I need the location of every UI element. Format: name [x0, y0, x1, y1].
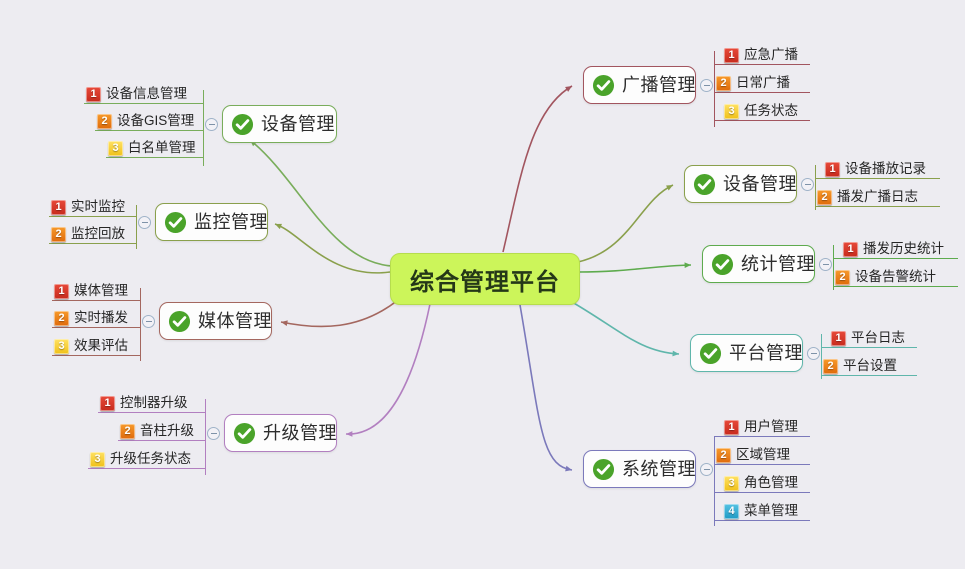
edge-to-media-mgmt-arrowhead	[281, 320, 288, 326]
branch-label: 设备管理	[261, 115, 335, 133]
branch-label: 平台管理	[729, 344, 803, 362]
branch-node-upgrade-mgmt[interactable]: 升级管理	[224, 414, 337, 452]
subitem-label: 升级任务状态	[110, 452, 191, 466]
subitem-number-badge: 3	[108, 141, 123, 156]
subitem-device-mgmt-left-1[interactable]: 1设备信息管理	[84, 83, 203, 105]
subitem-broadcast-mgmt-3[interactable]: 3任务状态	[722, 100, 810, 122]
subitem-upgrade-mgmt-1[interactable]: 1控制器升级	[98, 392, 205, 414]
subitem-system-mgmt-4[interactable]: 4菜单管理	[722, 500, 810, 522]
collapse-minus-icon-device-mgmt-right[interactable]	[801, 178, 814, 191]
subitem-label: 白名单管理	[128, 141, 196, 155]
subitem-label: 控制器升级	[120, 396, 188, 410]
branch-node-monitor-mgmt[interactable]: 监控管理	[155, 203, 268, 241]
edge-to-device-mgmt-left	[250, 140, 392, 266]
subitem-device-mgmt-left-2[interactable]: 2设备GIS管理	[95, 110, 203, 132]
subitem-number-badge: 1	[86, 87, 101, 102]
check-circle-icon	[164, 211, 187, 234]
branch-node-platform-mgmt[interactable]: 平台管理	[690, 334, 803, 372]
branch-label: 统计管理	[741, 255, 815, 273]
subitem-device-mgmt-right-2[interactable]: 2播发广播日志	[815, 186, 932, 208]
subitem-label: 角色管理	[744, 476, 798, 490]
central-topic-label: 综合管理平台	[410, 262, 560, 297]
edge-to-upgrade-mgmt	[346, 304, 430, 434]
check-circle-icon	[592, 458, 615, 481]
check-circle-icon	[711, 253, 734, 276]
edge-to-broadcast-mgmt	[503, 86, 572, 252]
subitem-spine-monitor-mgmt	[136, 205, 137, 249]
branch-label: 监控管理	[194, 213, 268, 231]
subitem-label: 设备信息管理	[106, 87, 187, 101]
subitem-number-badge: 2	[716, 76, 731, 91]
check-circle-icon	[592, 74, 615, 97]
subitem-media-mgmt-3[interactable]: 3效果评估	[52, 335, 140, 357]
subitem-number-badge: 4	[724, 504, 739, 519]
subitem-device-mgmt-right-1[interactable]: 1设备播放记录	[823, 158, 940, 180]
subitem-label: 实时监控	[71, 200, 125, 214]
subitem-spine-device-mgmt-left	[203, 90, 204, 166]
edge-to-monitor-mgmt-arrowhead	[275, 224, 282, 229]
edge-to-system-mgmt	[520, 305, 572, 470]
subitem-label: 区域管理	[736, 448, 790, 462]
subitem-platform-mgmt-2[interactable]: 2平台设置	[821, 355, 909, 377]
subitem-label: 设备播放记录	[845, 162, 926, 176]
central-topic[interactable]: 综合管理平台	[390, 253, 580, 305]
mindmap-canvas: 综合管理平台设备管理1设备信息管理2设备GIS管理3白名单管理监控管理1实时监控…	[0, 0, 965, 569]
subitem-number-badge: 1	[843, 242, 858, 257]
subitem-label: 音柱升级	[140, 424, 194, 438]
branch-label: 广播管理	[622, 76, 696, 94]
subitem-platform-mgmt-1[interactable]: 1平台日志	[829, 327, 917, 349]
subitem-label: 媒体管理	[74, 284, 128, 298]
collapse-minus-icon-media-mgmt[interactable]	[142, 315, 155, 328]
subitem-upgrade-mgmt-2[interactable]: 2音柱升级	[118, 420, 205, 442]
subitem-label: 平台设置	[843, 359, 897, 373]
subitem-label: 播发历史统计	[863, 242, 944, 256]
subitem-label: 播发广播日志	[837, 190, 918, 204]
edge-to-system-mgmt-arrowhead	[565, 466, 572, 472]
subitem-number-badge: 3	[90, 452, 105, 467]
subitem-number-badge: 2	[835, 270, 850, 285]
subitem-label: 监控回放	[71, 227, 125, 241]
branch-node-device-mgmt-left[interactable]: 设备管理	[222, 105, 337, 143]
subitem-number-badge: 3	[54, 339, 69, 354]
collapse-minus-icon-upgrade-mgmt[interactable]	[207, 427, 220, 440]
subitem-number-badge: 1	[51, 200, 66, 215]
subitem-label: 平台日志	[851, 331, 905, 345]
check-circle-icon	[699, 342, 722, 365]
subitem-stat-mgmt-1[interactable]: 1播发历史统计	[841, 238, 958, 260]
subitem-number-badge: 2	[51, 227, 66, 242]
branch-node-device-mgmt-right[interactable]: 设备管理	[684, 165, 797, 203]
edge-to-stat-mgmt	[578, 265, 691, 272]
subitem-label: 日常广播	[736, 76, 790, 90]
subitem-label: 效果评估	[74, 339, 128, 353]
collapse-minus-icon-broadcast-mgmt[interactable]	[700, 79, 713, 92]
subitem-label: 设备告警统计	[855, 270, 936, 284]
branch-node-stat-mgmt[interactable]: 统计管理	[702, 245, 815, 283]
check-circle-icon	[233, 422, 256, 445]
edge-to-broadcast-mgmt-arrowhead	[565, 86, 572, 92]
edge-to-platform-mgmt	[572, 302, 679, 354]
check-circle-icon	[693, 173, 716, 196]
edge-to-device-mgmt-right-arrowhead	[666, 185, 673, 191]
branch-label: 系统管理	[622, 460, 696, 478]
collapse-minus-icon-platform-mgmt[interactable]	[807, 347, 820, 360]
collapse-minus-icon-monitor-mgmt[interactable]	[138, 216, 151, 229]
subitem-number-badge: 1	[100, 396, 115, 411]
subitem-label: 实时播发	[74, 311, 128, 325]
subitem-number-badge: 2	[716, 448, 731, 463]
subitem-spine-upgrade-mgmt	[205, 399, 206, 475]
subitem-label: 设备GIS管理	[117, 114, 194, 128]
subitem-label: 应急广播	[744, 48, 798, 62]
edge-to-upgrade-mgmt-arrowhead	[346, 431, 352, 437]
branch-label: 升级管理	[263, 424, 337, 442]
collapse-minus-icon-device-mgmt-left[interactable]	[205, 118, 218, 131]
edge-to-monitor-mgmt	[275, 224, 390, 273]
subitem-system-mgmt-1[interactable]: 1用户管理	[722, 416, 810, 438]
collapse-minus-icon-system-mgmt[interactable]	[700, 463, 713, 476]
check-circle-icon	[168, 310, 191, 333]
subitem-number-badge: 1	[825, 162, 840, 177]
subitem-system-mgmt-2[interactable]: 2区域管理	[714, 444, 802, 466]
subitem-number-badge: 2	[823, 359, 838, 374]
subitem-number-badge: 1	[831, 331, 846, 346]
subitem-label: 用户管理	[744, 420, 798, 434]
subitem-number-badge: 2	[120, 424, 135, 439]
collapse-minus-icon-stat-mgmt[interactable]	[819, 258, 832, 271]
subitem-label: 菜单管理	[744, 504, 798, 518]
subitem-stat-mgmt-2[interactable]: 2设备告警统计	[833, 266, 950, 288]
edge-to-platform-mgmt-arrowhead	[672, 351, 679, 357]
subitem-device-mgmt-left-3[interactable]: 3白名单管理	[106, 137, 203, 159]
branch-node-system-mgmt[interactable]: 系统管理	[583, 450, 696, 488]
subitem-number-badge: 3	[724, 476, 739, 491]
subitem-upgrade-mgmt-3[interactable]: 3升级任务状态	[88, 448, 205, 470]
branch-node-media-mgmt[interactable]: 媒体管理	[159, 302, 272, 340]
edge-to-media-mgmt	[281, 300, 398, 327]
subitem-number-badge: 1	[724, 48, 739, 63]
subitem-monitor-mgmt-2[interactable]: 2监控回放	[49, 223, 136, 245]
subitem-number-badge: 2	[817, 190, 832, 205]
subitem-spine-media-mgmt	[140, 288, 141, 361]
subitem-label: 任务状态	[744, 104, 798, 118]
branch-node-broadcast-mgmt[interactable]: 广播管理	[583, 66, 696, 104]
subitem-number-badge: 1	[724, 420, 739, 435]
branch-label: 媒体管理	[198, 312, 272, 330]
edge-to-device-mgmt-right	[578, 185, 673, 262]
branch-label: 设备管理	[723, 175, 797, 193]
subitem-media-mgmt-2[interactable]: 2实时播发	[52, 307, 140, 329]
subitem-number-badge: 2	[54, 311, 69, 326]
subitem-monitor-mgmt-1[interactable]: 1实时监控	[49, 196, 136, 218]
subitem-broadcast-mgmt-2[interactable]: 2日常广播	[714, 72, 802, 94]
subitem-broadcast-mgmt-1[interactable]: 1应急广播	[722, 44, 810, 66]
subitem-number-badge: 2	[97, 114, 112, 129]
check-circle-icon	[231, 113, 254, 136]
subitem-number-badge: 3	[724, 104, 739, 119]
subitem-system-mgmt-3[interactable]: 3角色管理	[722, 472, 810, 494]
subitem-media-mgmt-1[interactable]: 1媒体管理	[52, 280, 140, 302]
subitem-number-badge: 1	[54, 284, 69, 299]
edge-to-stat-mgmt-arrowhead	[685, 262, 691, 268]
